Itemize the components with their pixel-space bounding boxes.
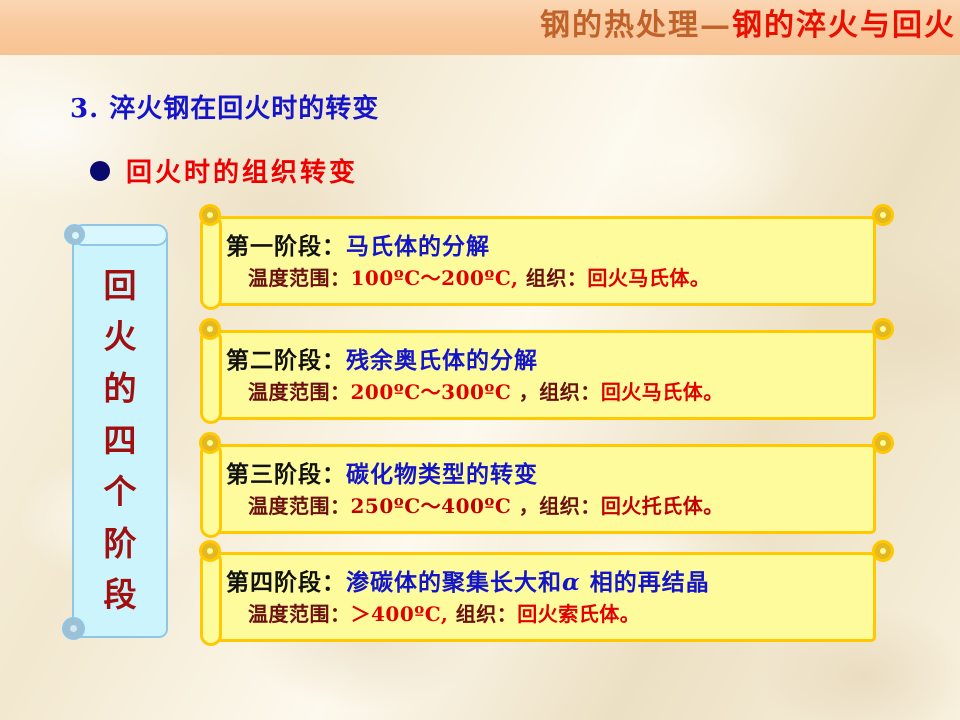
scroll-knob-right-icon <box>872 432 894 454</box>
slide-canvas: 钢的热处理—钢的淬火与回火 3. 淬火钢在回火时的转变 回火时的组织转变 回 火… <box>0 0 960 720</box>
temp-label: 温度范围： <box>248 266 351 290</box>
temp-label: 温度范围： <box>248 494 351 518</box>
vertical-banner-char: 段 <box>104 578 137 611</box>
structure-label: 组织： <box>518 266 587 290</box>
stage-detail-line: 温度范围：200ºC～300ºC ，组织：回火马氏体。 <box>226 378 870 406</box>
page-title-prefix: 钢的热处理— <box>540 8 732 43</box>
scroll-knob-left-icon <box>199 204 221 226</box>
structure-label: ，组织： <box>511 380 600 404</box>
structure-label: ，组织： <box>511 494 600 518</box>
stage-detail-line: 温度范围：100ºC～200ºC, 组织：回火马氏体。 <box>226 264 870 292</box>
page-title: 钢的热处理—钢的淬火与回火 <box>540 4 956 48</box>
scroll-knob-left-icon <box>199 540 221 562</box>
structure-value: 回火马氏体。 <box>587 266 710 290</box>
vertical-scroll-banner: 回 火 的 四 个 阶 段 <box>62 222 170 642</box>
stage-box-4: 第四阶段：渗碳体的聚集长大和α 相的再结晶 温度范围：＞400ºC, 组织：回火… <box>196 540 896 648</box>
scroll-knob-right-icon <box>872 540 894 562</box>
alpha-symbol: α <box>562 569 581 596</box>
page-title-emphasis: 钢的淬火与回火 <box>732 8 956 43</box>
stage-label: 第一阶段： <box>226 233 346 260</box>
temp-value: 200ºC～300ºC <box>351 380 512 404</box>
stage-box-1: 第一阶段：马氏体的分解 温度范围：100ºC～200ºC, 组织：回火马氏体。 <box>196 204 896 312</box>
structure-label: 组织： <box>448 602 517 626</box>
stage-title-line: 第二阶段：残余奥氏体的分解 <box>226 346 870 376</box>
stage-title-line: 第三阶段：碳化物类型的转变 <box>226 460 870 490</box>
stage-label: 第四阶段： <box>226 569 346 596</box>
stage-detail-line: 温度范围：＞400ºC, 组织：回火索氏体。 <box>226 600 870 628</box>
stage-box-left-roll <box>200 442 222 538</box>
stage-box-left-roll <box>200 214 222 310</box>
structure-value: 回火马氏体。 <box>601 380 724 404</box>
vertical-banner-text: 回 火 的 四 个 阶 段 <box>72 250 168 630</box>
scroll-knob-left-icon <box>199 318 221 340</box>
stage-title-line: 第四阶段：渗碳体的聚集长大和α 相的再结晶 <box>226 568 870 598</box>
subsection-heading-label: 回火时的组织转变 <box>126 152 358 189</box>
vertical-banner-char: 个 <box>104 475 137 508</box>
stage-name: 碳化物类型的转变 <box>346 461 538 488</box>
vertical-banner-char: 火 <box>104 320 137 353</box>
vertical-banner-char: 四 <box>104 424 137 457</box>
stage-name-part-b: 相的再结晶 <box>581 569 710 596</box>
vertical-banner-top-roll <box>72 224 168 246</box>
vertical-banner-char: 回 <box>104 269 137 302</box>
stage-box-content: 第三阶段：碳化物类型的转变 温度范围：250ºC～400ºC ，组织：回火托氏体… <box>226 446 870 534</box>
temp-label: 温度范围： <box>248 380 351 404</box>
stage-box-2: 第二阶段：残余奥氏体的分解 温度范围：200ºC～300ºC ，组织：回火马氏体… <box>196 318 896 426</box>
scroll-knob-right-icon <box>872 318 894 340</box>
temp-value: 250ºC～400ºC <box>351 494 512 518</box>
vertical-banner-char: 的 <box>104 372 137 405</box>
stage-box-3: 第三阶段：碳化物类型的转变 温度范围：250ºC～400ºC ，组织：回火托氏体… <box>196 432 896 540</box>
stage-box-content: 第四阶段：渗碳体的聚集长大和α 相的再结晶 温度范围：＞400ºC, 组织：回火… <box>226 554 870 642</box>
stage-name: 残余奥氏体的分解 <box>346 347 538 374</box>
stage-box-left-roll <box>200 328 222 424</box>
stage-box-content: 第二阶段：残余奥氏体的分解 温度范围：200ºC～300ºC ，组织：回火马氏体… <box>226 332 870 420</box>
stage-label: 第三阶段： <box>226 461 346 488</box>
scroll-knob-left-icon <box>199 432 221 454</box>
section-heading: 3. 淬火钢在回火时的转变 <box>70 88 379 125</box>
temp-value: 100ºC～200ºC, <box>351 266 519 290</box>
structure-value: 回火托氏体。 <box>601 494 724 518</box>
filled-circle-bullet-icon <box>90 161 110 181</box>
temp-label: 温度范围： <box>248 602 351 626</box>
stage-name: 马氏体的分解 <box>346 233 490 260</box>
scroll-knob-right-icon <box>872 204 894 226</box>
structure-value: 回火索氏体。 <box>517 602 640 626</box>
subsection-heading-row: 回火时的组织转变 <box>90 152 358 189</box>
header-band: 钢的热处理—钢的淬火与回火 <box>0 0 960 55</box>
stage-title-line: 第一阶段：马氏体的分解 <box>226 232 870 262</box>
temp-value: ＞400ºC, <box>351 602 449 626</box>
stage-label: 第二阶段： <box>226 347 346 374</box>
vertical-banner-char: 阶 <box>104 527 137 560</box>
stage-box-left-roll <box>200 550 222 646</box>
stage-box-content: 第一阶段：马氏体的分解 温度范围：100ºC～200ºC, 组织：回火马氏体。 <box>226 218 870 306</box>
scroll-knob-top-icon <box>64 224 85 245</box>
stage-name-part-a: 渗碳体的聚集长大和 <box>346 569 562 596</box>
stage-detail-line: 温度范围：250ºC～400ºC ，组织：回火托氏体。 <box>226 492 870 520</box>
